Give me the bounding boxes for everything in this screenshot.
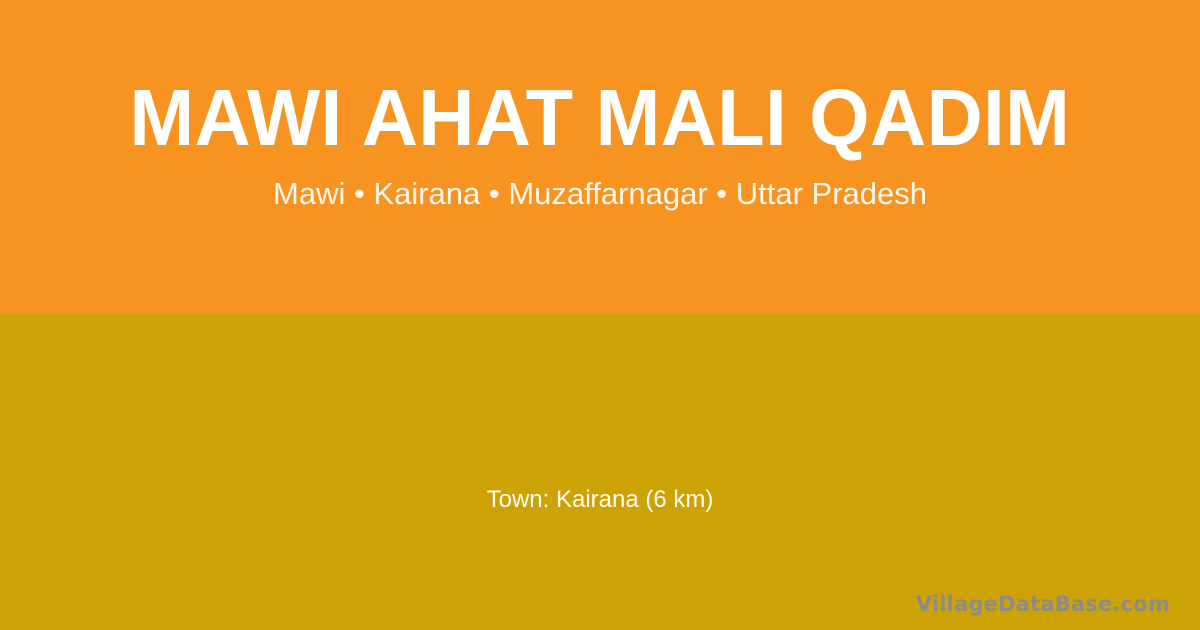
- nearest-town-caption: Town: Kairana (6 km): [0, 486, 1200, 514]
- page-title: MAWI AHAT MALI QADIM: [130, 78, 1071, 158]
- breadcrumb: Mawi • Kairana • Muzaffarnagar • Uttar P…: [273, 176, 927, 212]
- hero-section: MAWI AHAT MALI QADIM Mawi • Kairana • Mu…: [0, 0, 1200, 314]
- site-watermark: VillageDataBase.com: [916, 592, 1170, 616]
- info-section: Town: Kairana (6 km): [0, 314, 1200, 630]
- village-banner: MAWI AHAT MALI QADIM Mawi • Kairana • Mu…: [0, 0, 1200, 630]
